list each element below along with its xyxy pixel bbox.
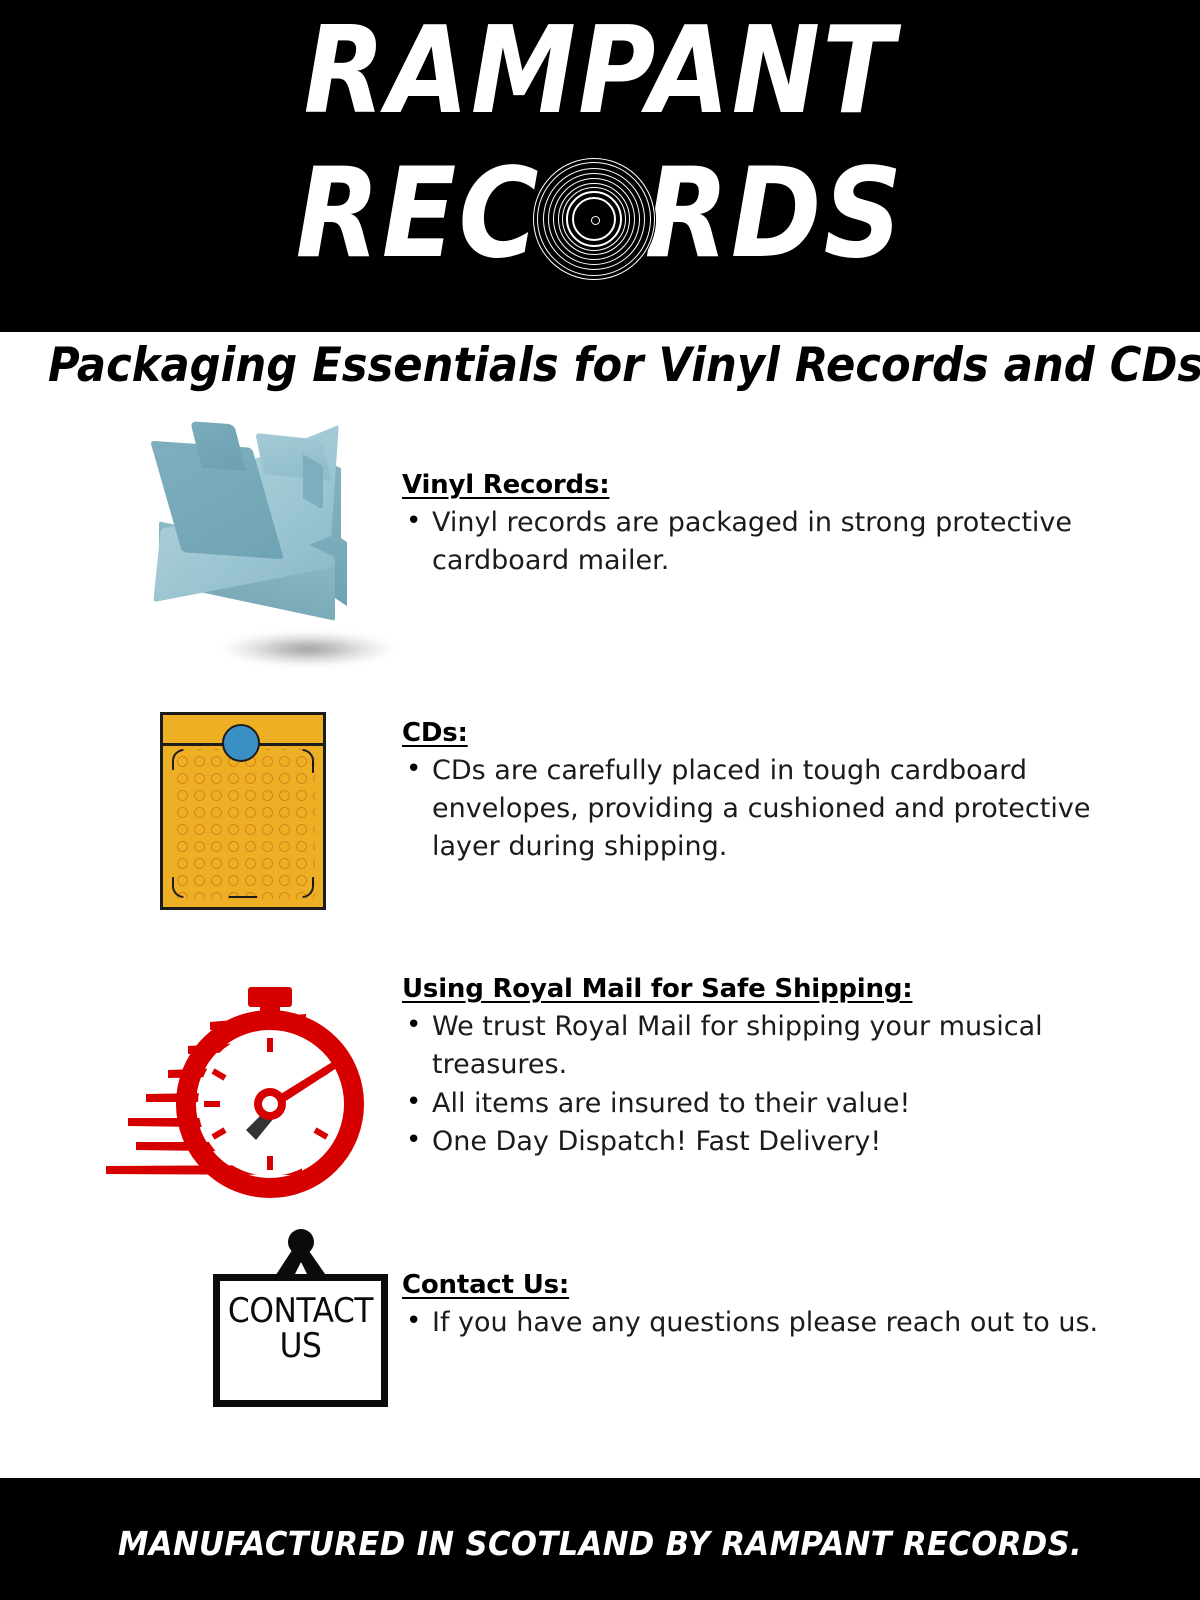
section-contact-us: CONTACT US Contact Us: If you have any q… [0,1222,1200,1412]
logo-line-rampant: RAMPANT [72,12,1128,132]
section-icon-column [60,418,380,688]
envelope-bubble-texture [171,749,315,899]
envelope-blue-seal-icon [222,724,260,762]
page-subtitle: Packaging Essentials for Vinyl Records a… [48,338,1152,393]
logo-records-after: RDS [645,152,905,276]
section-bullets-royal-mail: We trust Royal Mail for shipping your mu… [398,1008,1118,1161]
section-heading-cds: CDs: [402,718,1118,748]
section-royal-mail: Using Royal Mail for Safe Shipping: We t… [0,952,1200,1212]
list-item: Vinyl records are packaged in strong pro… [398,504,1118,580]
fast-stopwatch-icon [70,952,400,1202]
section-bullets-vinyl-records: Vinyl records are packaged in strong pro… [398,504,1118,580]
list-item: We trust Royal Mail for shipping your mu… [398,1008,1118,1084]
section-icon-column [60,952,380,1212]
sign-label: CONTACT US [220,1294,381,1363]
list-item: CDs are carefully placed in tough cardbo… [398,752,1118,865]
list-item: One Day Dispatch! Fast Delivery! [398,1123,1118,1161]
section-cds: CDs: CDs are carefully placed in tough c… [0,700,1200,940]
cardboard-mailer-box-icon [135,420,385,670]
section-text-column: Contact Us: If you have any questions pl… [398,1270,1118,1343]
box-drop-shadow [223,632,393,666]
sign-label-line-2: US [220,1329,381,1364]
section-heading-vinyl-records: Vinyl Records: [402,470,1118,500]
sign-label-line-1: CONTACT [220,1294,381,1329]
section-icon-column [60,700,380,940]
section-bullets-contact-us: If you have any questions please reach o… [398,1304,1118,1342]
hanging-contact-us-sign-icon: CONTACT US [140,1222,370,1412]
vinyl-record-icon [532,157,656,281]
section-bullets-cds: CDs are carefully placed in tough cardbo… [398,752,1118,865]
logo-records-before: REC [296,152,541,276]
section-vinyl-records: Vinyl Records: Vinyl records are package… [0,418,1200,688]
section-heading-royal-mail: Using Royal Mail for Safe Shipping: [402,974,1118,1004]
padded-bubble-envelope-icon [160,712,340,912]
section-text-column: CDs: CDs are carefully placed in tough c… [398,718,1118,866]
header-banner: RAMPANT RECRDS [0,0,1200,332]
list-item: If you have any questions please reach o… [398,1304,1118,1342]
list-item: All items are insured to their value! [398,1085,1118,1123]
section-text-column: Using Royal Mail for Safe Shipping: We t… [398,974,1118,1162]
section-icon-column: CONTACT US [60,1222,380,1412]
section-text-column: Vinyl Records: Vinyl records are package… [398,470,1118,581]
stopwatch-svg [70,952,400,1202]
footer-banner: MANUFACTURED IN SCOTLAND BY RAMPANT RECO… [0,1478,1200,1600]
footer-text: MANUFACTURED IN SCOTLAND BY RAMPANT RECO… [42,1524,1158,1563]
section-heading-contact-us: Contact Us: [402,1270,1118,1300]
